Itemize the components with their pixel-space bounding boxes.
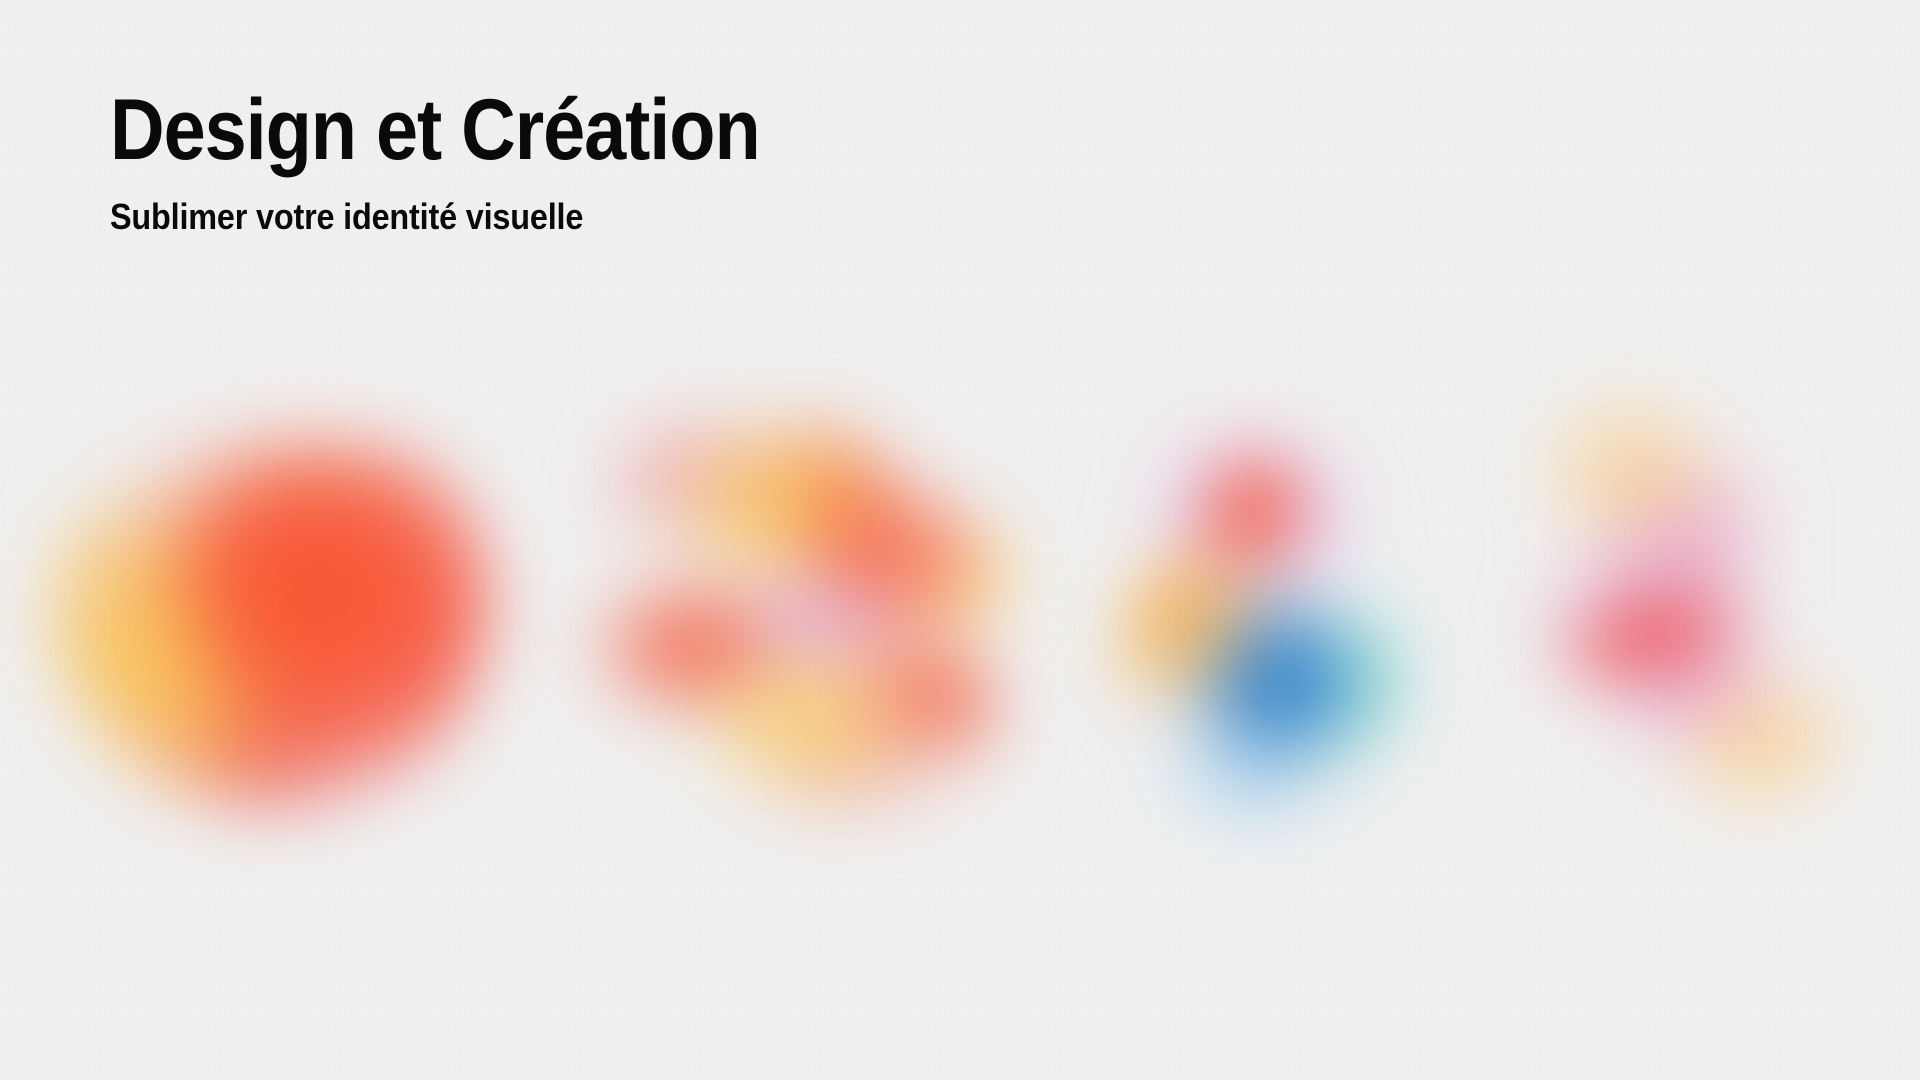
gradient-blob-3: [1110, 398, 1410, 818]
blob-2-bottom-lobe: [690, 614, 1000, 814]
header-text-block: Design et Création Sublimer votre identi…: [110, 88, 848, 236]
gradient-blob-2: [585, 400, 1035, 820]
gradient-blob-1: [40, 392, 500, 822]
gradient-blob-4: [1480, 388, 1880, 838]
blob-4-bottom-lobe: [1640, 638, 1860, 838]
page-subtitle: Sublimer votre identité visuelle: [110, 198, 774, 236]
page-title: Design et Création: [110, 88, 760, 172]
blob-3-body-lobe: [1114, 530, 1404, 818]
blob-1-core-lobe: [100, 432, 430, 762]
poster-canvas: Design et Création Sublimer votre identi…: [0, 0, 1920, 1080]
